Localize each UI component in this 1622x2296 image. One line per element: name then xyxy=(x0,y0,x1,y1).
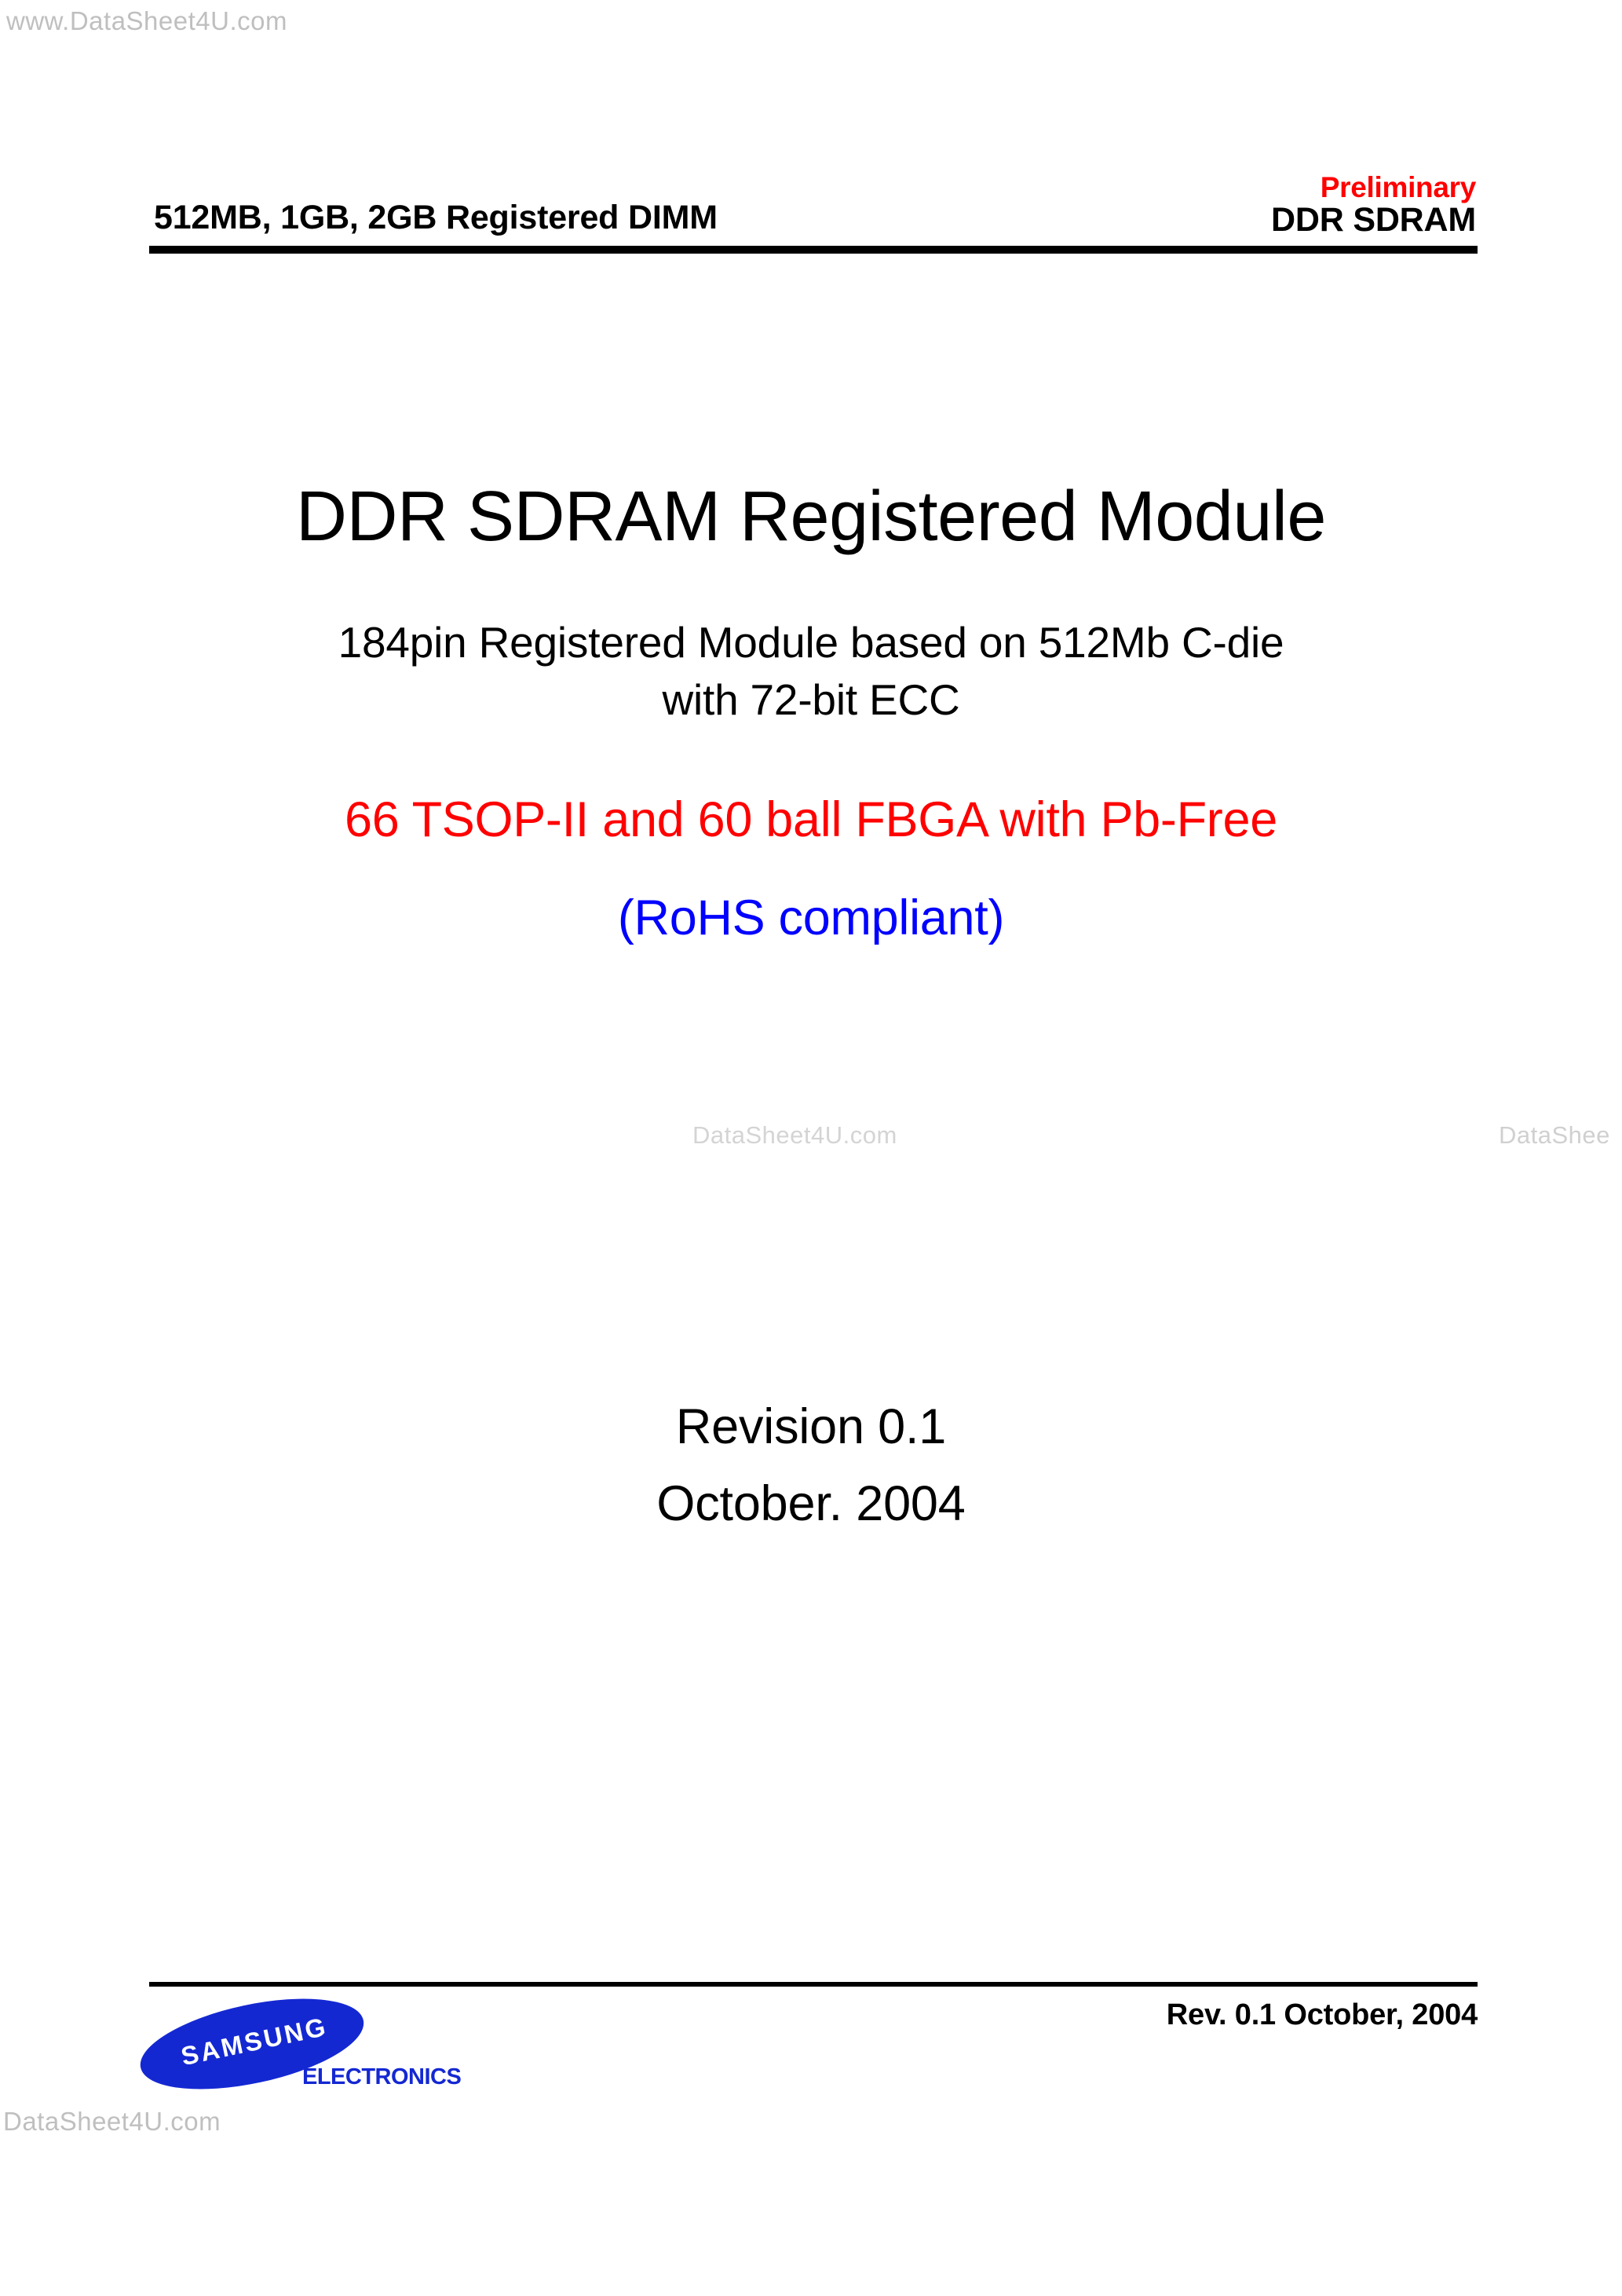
watermark-center: DataSheet4U.com xyxy=(692,1121,897,1150)
revision-block: Revision 0.1 October. 2004 xyxy=(0,1388,1622,1543)
logo-subtext-electronics: ELECTRONICS xyxy=(302,2064,461,2090)
footer-revision-text: Rev. 0.1 October, 2004 xyxy=(1167,1998,1478,2032)
samsung-logo: SAMSUNG ELECTRONICS xyxy=(138,1998,452,2132)
watermark-right-clipped: DataShee xyxy=(1499,1121,1610,1150)
revision-number: Revision 0.1 xyxy=(0,1388,1622,1465)
subtitle-line-1: 184pin Registered Module based on 512Mb … xyxy=(338,618,1284,667)
rohs-compliance-note: (RoHS compliant) xyxy=(0,894,1622,943)
header-product-block: Preliminary DDR SDRAM xyxy=(1271,173,1476,237)
header-rule xyxy=(149,246,1478,254)
page-subtitle: 184pin Registered Module based on 512Mb … xyxy=(0,614,1622,729)
footer-rule xyxy=(149,1982,1478,1987)
status-badge-preliminary: Preliminary xyxy=(1271,173,1476,202)
header-product-family: DDR SDRAM xyxy=(1271,203,1476,237)
header-module-title: 512MB, 1GB, 2GB Registered DIMM xyxy=(154,199,718,237)
watermark-top-left: www.DataSheet4U.com xyxy=(6,6,287,36)
header-row: 512MB, 1GB, 2GB Registered DIMM Prelimin… xyxy=(149,174,1478,237)
revision-date: October. 2004 xyxy=(0,1465,1622,1542)
page-header: 512MB, 1GB, 2GB Registered DIMM Prelimin… xyxy=(149,174,1478,237)
datasheet-cover-page: www.DataSheet4U.com DataSheet4U.com Data… xyxy=(0,0,1622,2296)
page-title: DDR SDRAM Registered Module xyxy=(0,481,1622,552)
package-description: 66 TSOP-II and 60 ball FBGA with Pb-Free xyxy=(0,795,1622,845)
subtitle-line-2: with 72-bit ECC xyxy=(662,675,959,724)
